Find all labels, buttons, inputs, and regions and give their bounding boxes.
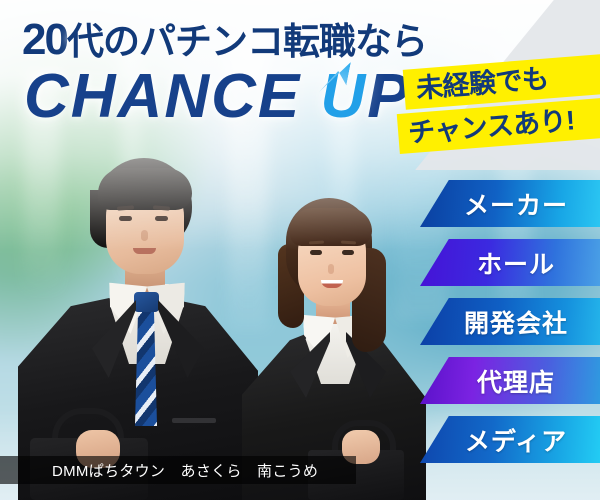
category-label: 代理店 (465, 363, 555, 399)
male-jacket-pocket (172, 418, 216, 423)
category-button-maker[interactable]: メーカー (420, 180, 600, 227)
category-list: メーカー ホール 開発会社 代理店 メディア (420, 180, 600, 475)
female-eye-right (342, 250, 354, 255)
credit-text: DMMぱちタウン あさくら 南こうめ (0, 460, 318, 481)
category-button-development-company[interactable]: 開発会社 (420, 298, 600, 345)
category-button-media[interactable]: メディア (420, 416, 600, 463)
category-label: メディア (453, 422, 567, 458)
badge-label: チャンスあり! (407, 107, 575, 147)
male-necktie-knot (134, 292, 159, 312)
credit-bar: DMMぱちタウン あさくら 南こうめ (0, 456, 356, 484)
headline-text: 代のパチンコ転職なら (67, 21, 427, 62)
category-label: ホール (465, 245, 555, 281)
category-label: 開発会社 (452, 304, 568, 340)
category-button-hall[interactable]: ホール (420, 239, 600, 286)
logo-text-part1: CHANCE (24, 62, 320, 131)
badge-label: 未経験でも (415, 65, 549, 102)
female-eye-left (310, 250, 322, 255)
advertisement-banner[interactable]: 20代のパチンコ転職なら CHANCE UP 未経験でも チャンスあり! メーカ… (0, 0, 600, 500)
category-label: メーカー (452, 186, 568, 222)
female-nose (328, 264, 334, 274)
category-button-agency[interactable]: 代理店 (420, 357, 600, 404)
chance-up-logo: CHANCE UP (24, 66, 411, 128)
page-title: 20代のパチンコ転職なら (22, 18, 427, 62)
headline-number: 20 (22, 15, 67, 64)
